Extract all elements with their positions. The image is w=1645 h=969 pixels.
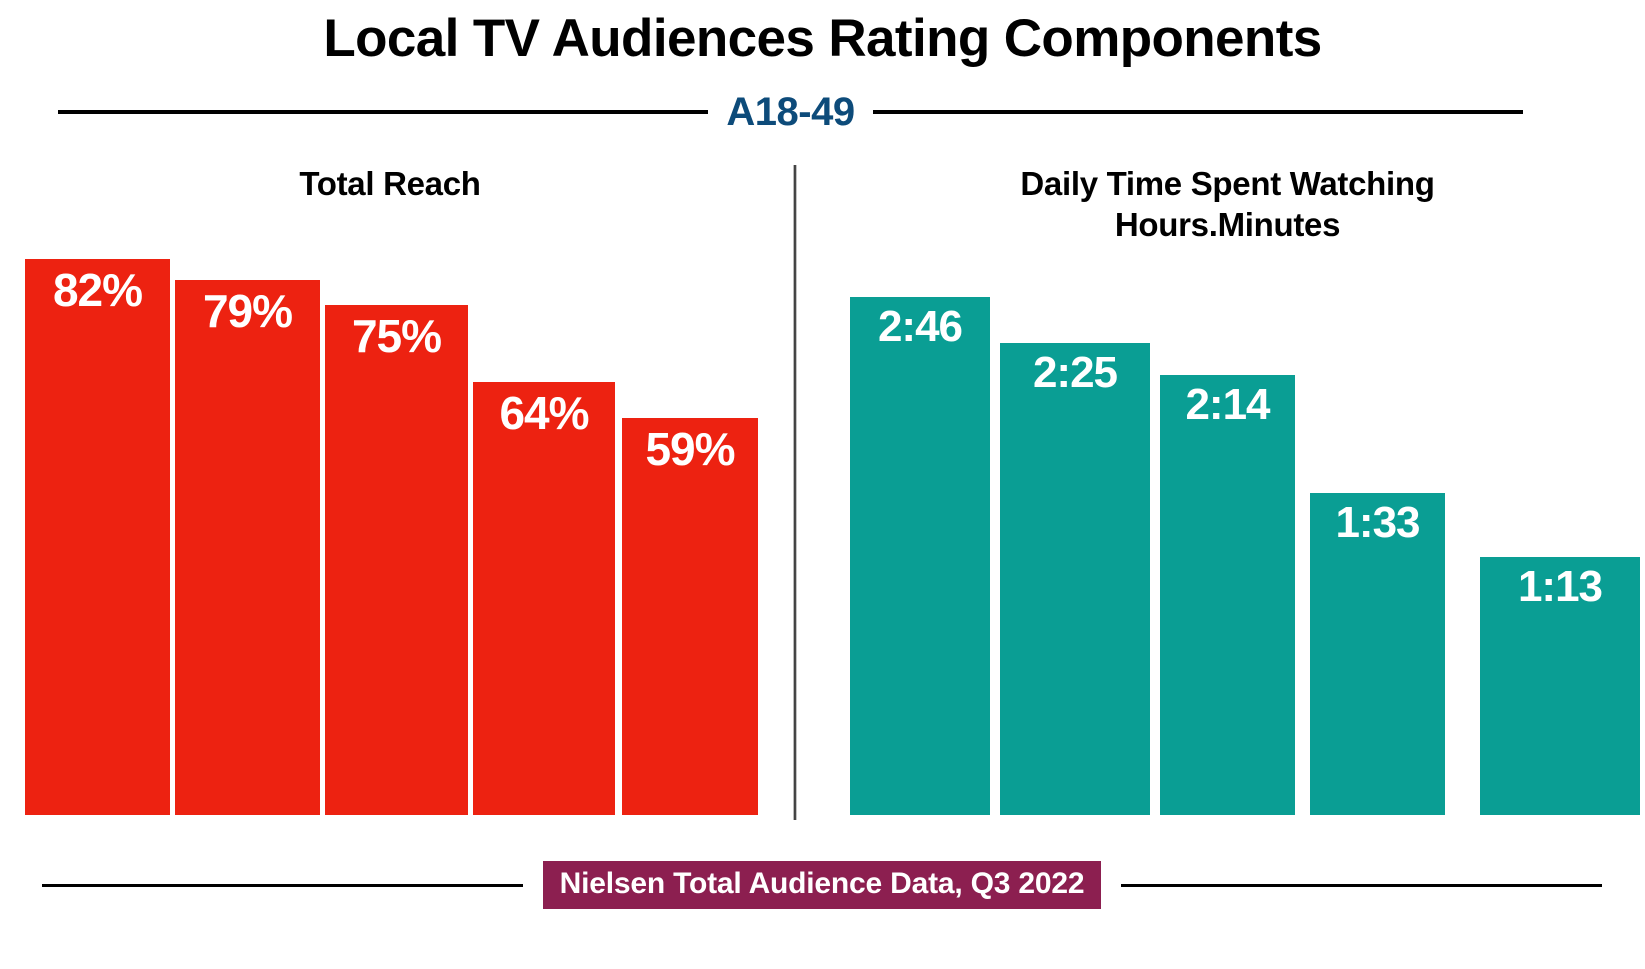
reach-bar-1: 82% <box>25 259 170 815</box>
panel-heading-daily-time-line1: Daily Time Spent Watching <box>810 163 1645 204</box>
subtitle-row: A18-49 <box>58 84 1523 140</box>
time-bar-1: 2:46 <box>850 297 990 815</box>
time-bar-4: 1:33 <box>1310 493 1445 815</box>
footer-row: Nielsen Total Audience Data, Q3 2022 <box>42 855 1602 915</box>
time-bar-value-label-3: 2:14 <box>1160 383 1295 427</box>
chart-subtitle: A18-49 <box>708 90 872 135</box>
panel-heading-daily-time: Daily Time Spent Watching Hours.Minutes <box>810 163 1645 246</box>
source-badge: Nielsen Total Audience Data, Q3 2022 <box>543 861 1102 909</box>
time-bar-value-label-5: 1:13 <box>1480 565 1640 609</box>
reach-bar-value-label-5: 59% <box>622 426 758 472</box>
reach-bar-value-label-4: 64% <box>473 390 615 436</box>
time-bar-value-label-1: 2:46 <box>850 305 990 349</box>
subtitle-rule-left <box>58 110 708 114</box>
panel-heading-total-reach: Total Reach <box>0 163 780 204</box>
time-bar-value-label-2: 2:25 <box>1000 351 1150 395</box>
panel-divider <box>793 165 797 820</box>
reach-bar-value-label-2: 79% <box>175 288 320 334</box>
reach-bar-value-label-1: 82% <box>25 267 170 313</box>
page-title: Local TV Audiences Rating Components <box>0 10 1645 67</box>
footer-rule-left <box>42 884 523 887</box>
subtitle-rule-right <box>873 110 1523 114</box>
time-bar-value-label-4: 1:33 <box>1310 501 1445 545</box>
footer-rule-right <box>1121 884 1602 887</box>
panel-heading-daily-time-line2: Hours.Minutes <box>810 204 1645 245</box>
time-bar-2: 2:25 <box>1000 343 1150 815</box>
chart-canvas: Local TV Audiences Rating Components A18… <box>0 0 1645 969</box>
reach-bar-5: 59% <box>622 418 758 815</box>
reach-bar-4: 64% <box>473 382 615 815</box>
reach-bar-3: 75% <box>325 305 468 815</box>
reach-bar-2: 79% <box>175 280 320 815</box>
reach-bar-value-label-3: 75% <box>325 313 468 359</box>
time-bar-5: 1:13 <box>1480 557 1640 815</box>
time-bar-3: 2:14 <box>1160 375 1295 815</box>
